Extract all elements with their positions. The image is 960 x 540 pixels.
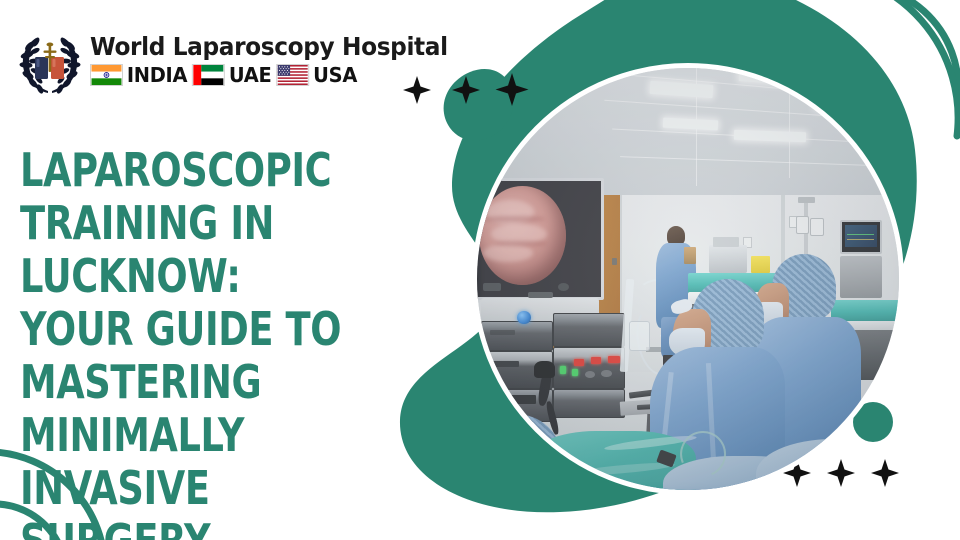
india-flag [90, 64, 123, 86]
usa-flag [276, 64, 309, 86]
uae-flag [192, 64, 225, 86]
brand-wordmark: World Laparoscopy Hospital [90, 34, 448, 60]
brand-logo[interactable]: World Laparoscopy Hospital [18, 32, 475, 98]
country-india: INDIA [90, 64, 187, 86]
country-uae: UAE [192, 64, 271, 86]
operating-room-scene [477, 68, 899, 490]
country-usa: USA [276, 64, 357, 86]
logo-text-column: World Laparoscopy Hospital [90, 32, 475, 86]
page-title: LAPAROSCOPIC TRAINING IN LUCKNOW: YOUR G… [20, 144, 364, 540]
country-label-india: INDIA [127, 65, 187, 85]
hero-photo [472, 63, 904, 495]
photo-vignette [477, 68, 899, 490]
laurel-wreath-medical-emblem [18, 32, 82, 98]
banner-canvas: World Laparoscopy Hospital [0, 0, 960, 540]
country-label-uae: UAE [229, 65, 272, 85]
country-list: INDIA UAE [90, 64, 463, 86]
country-label-usa: USA [313, 65, 357, 85]
